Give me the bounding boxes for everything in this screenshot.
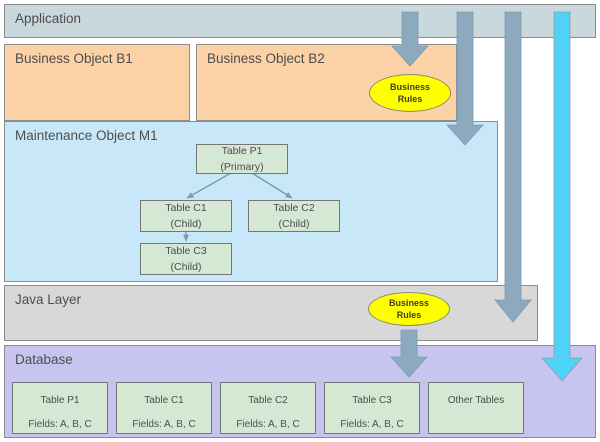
db-table-box-0[interactable]: Table P1 Fields: A, B, C [12, 382, 108, 434]
db-table-name-0: Table P1 [13, 395, 107, 406]
db-table-fields-2: Fields: A, B, C [221, 419, 315, 430]
business-rules-badge-java[interactable]: Business Rules [368, 292, 450, 326]
table-node-c2-name: Table C2 [273, 200, 314, 216]
layer-database-label: Database [15, 352, 73, 367]
db-table-box-1[interactable]: Table C1 Fields: A, B, C [116, 382, 212, 434]
db-table-fields-0: Fields: A, B, C [13, 419, 107, 430]
business-rules-java-line1: Business [389, 297, 429, 309]
db-table-box-3[interactable]: Table C3 Fields: A, B, C [324, 382, 420, 434]
business-rules-b2-line1: Business [390, 81, 430, 93]
table-node-c3-name: Table C3 [165, 243, 206, 259]
diagram-canvas: Application Business Object B1 Business … [0, 0, 600, 442]
db-table-fields-3: Fields: A, B, C [325, 419, 419, 430]
layer-maintenance-object-m1-label: Maintenance Object M1 [15, 128, 158, 143]
db-table-box-2[interactable]: Table C2 Fields: A, B, C [220, 382, 316, 434]
db-table-name-4: Other Tables [429, 395, 523, 406]
layer-java-label: Java Layer [15, 292, 81, 307]
table-node-c3[interactable]: Table C3 (Child) [140, 243, 232, 275]
table-node-c3-role: (Child) [171, 259, 202, 275]
arrow-app-to-database [542, 12, 582, 381]
table-node-p1[interactable]: Table P1 (Primary) [196, 144, 288, 174]
table-node-c1[interactable]: Table C1 (Child) [140, 200, 232, 232]
db-table-name-3: Table C3 [325, 395, 419, 406]
table-node-c1-name: Table C1 [165, 200, 206, 216]
layer-business-object-b2-label: Business Object B2 [207, 51, 325, 66]
layer-business-object-b1-label: Business Object B1 [15, 51, 133, 66]
table-node-p1-name: Table P1 [222, 143, 263, 159]
layer-application[interactable]: Application [4, 4, 596, 38]
db-table-name-1: Table C1 [117, 395, 211, 406]
table-node-c1-role: (Child) [171, 216, 202, 232]
layer-business-object-b1[interactable]: Business Object B1 [4, 44, 190, 121]
business-rules-badge-b2[interactable]: Business Rules [369, 74, 451, 112]
table-node-p1-role: (Primary) [220, 159, 263, 175]
db-table-name-2: Table C2 [221, 395, 315, 406]
db-table-box-4[interactable]: Other Tables [428, 382, 524, 434]
arrow-app-to-java-layer [495, 12, 531, 322]
layer-java[interactable]: Java Layer [4, 285, 538, 341]
table-node-c2[interactable]: Table C2 (Child) [248, 200, 340, 232]
table-node-c2-role: (Child) [279, 216, 310, 232]
business-rules-b2-line2: Rules [398, 93, 423, 105]
db-table-fields-1: Fields: A, B, C [117, 419, 211, 430]
layer-application-label: Application [15, 11, 81, 26]
business-rules-java-line2: Rules [397, 309, 422, 321]
